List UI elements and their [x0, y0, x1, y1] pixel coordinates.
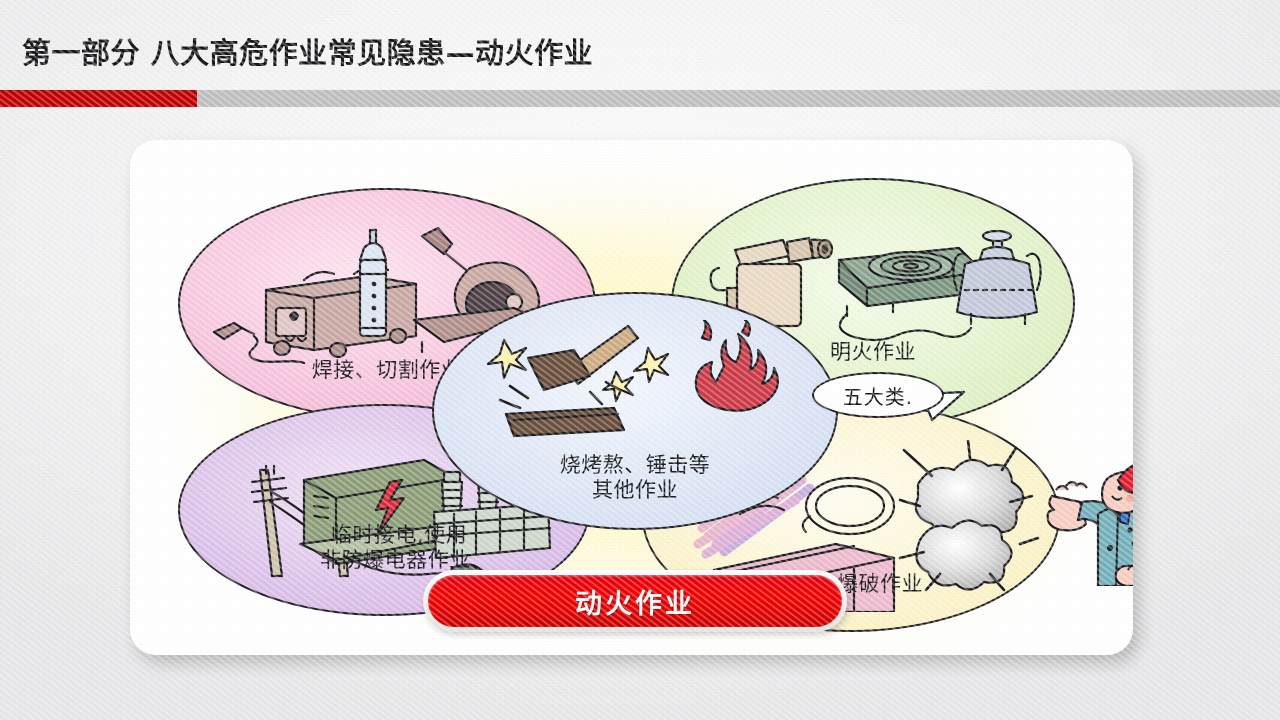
header-divider [0, 90, 1280, 107]
hot-work-banner[interactable]: 动火作业 [423, 570, 847, 632]
divider-red-segment [0, 90, 197, 107]
bubble-other-operations[interactable]: 烧烤熬、锤击等 其他作业 [432, 292, 838, 530]
speech-bubble: 五大类. [812, 372, 944, 418]
slide-canvas: 第一部分 八大高危作业常见隐患—动火作业 [0, 0, 1280, 720]
inspector-character [1046, 462, 1133, 586]
bubble-other-operations-label: 烧烤熬、锤击等 其他作业 [434, 453, 836, 504]
speech-bubble-text: 五大类. [843, 381, 913, 410]
hot-work-banner-fill: 动火作业 [428, 575, 842, 627]
content-card: 焊接、切割作业 [130, 140, 1133, 655]
hot-work-banner-text: 动火作业 [575, 582, 695, 621]
page-title: 第一部分 八大高危作业常见隐患—动火作业 [22, 30, 593, 72]
divider-gray-segment [197, 90, 1280, 107]
hammer-and-flame-art [470, 320, 804, 452]
bubble-temporary-power-label: 临时接电,使用 非防爆电器作业. [212, 523, 586, 574]
